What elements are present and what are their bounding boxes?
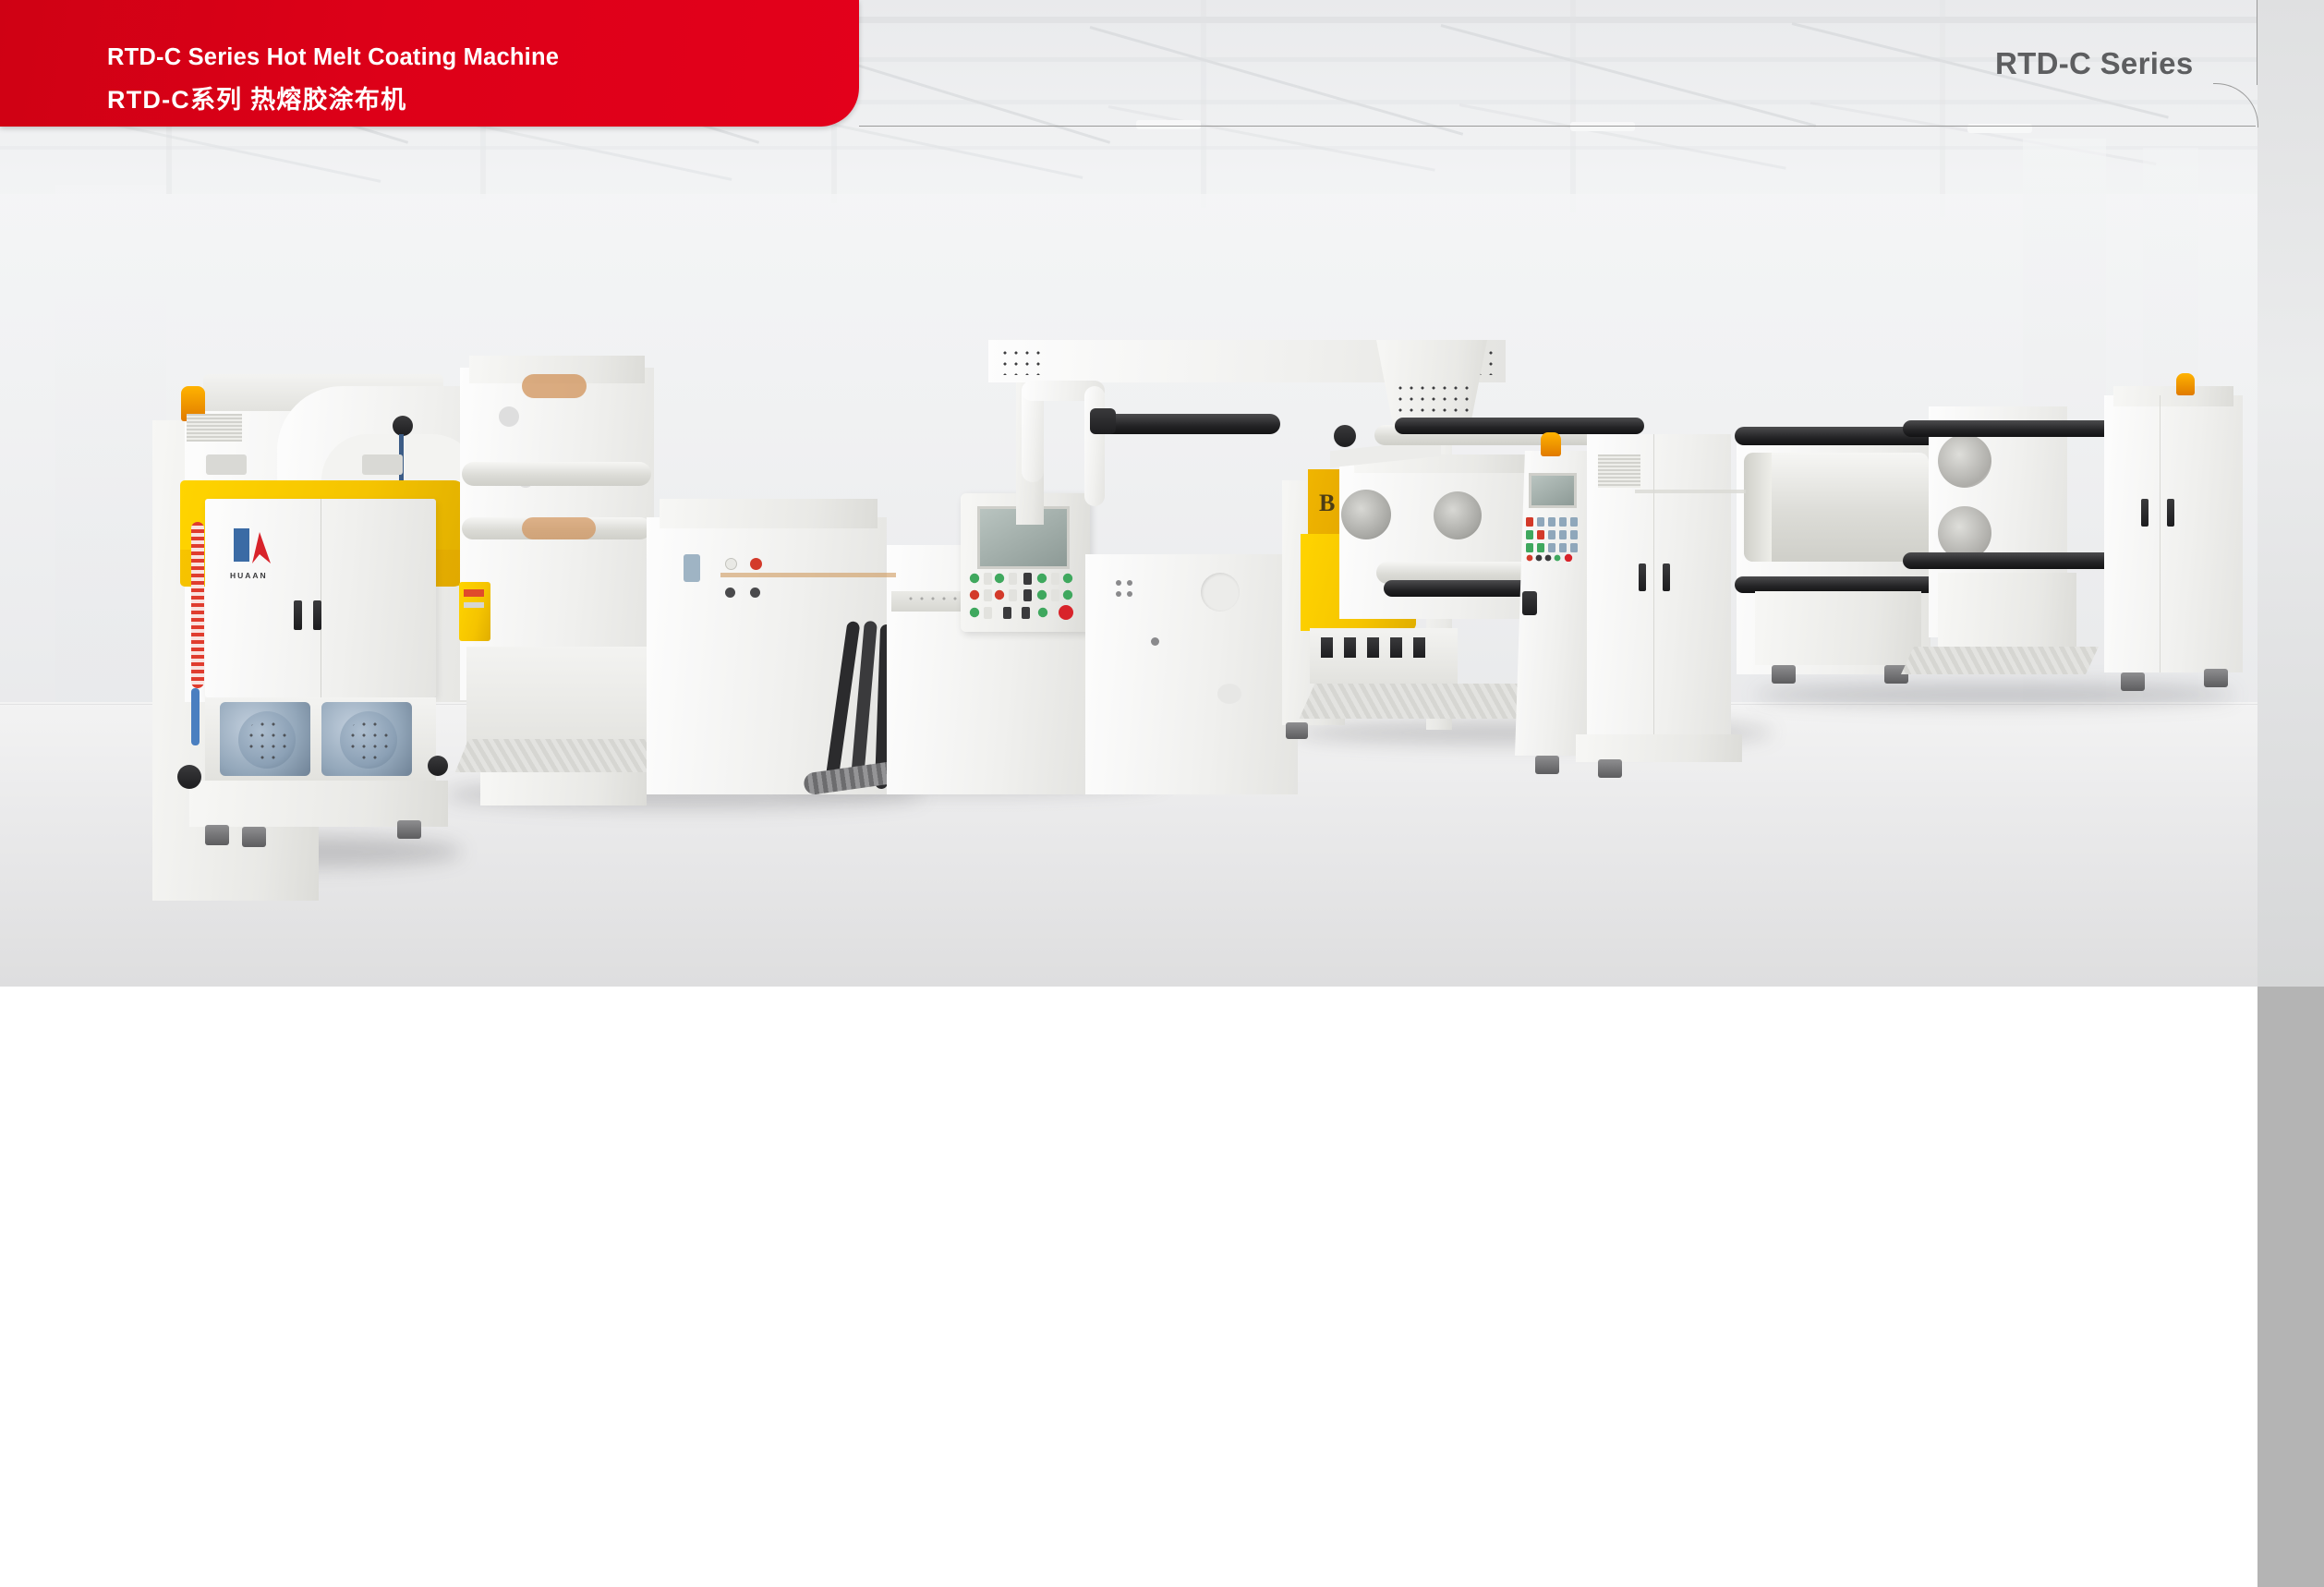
banner-title-cn: RTD-C系列 热熔胶涂布机 bbox=[107, 79, 406, 115]
product-photo: HUAAN bbox=[0, 0, 2324, 987]
far-right-cabinet bbox=[2104, 395, 2243, 672]
rewind-chuck-1 bbox=[1938, 434, 1991, 488]
right-edge-rail-bottom bbox=[2257, 987, 2324, 1587]
chuck-right bbox=[1434, 491, 1482, 539]
unwind-letter-b: B bbox=[1319, 490, 1335, 517]
header-hairline bbox=[859, 126, 2256, 127]
warning-beacon-right bbox=[1541, 432, 1561, 456]
header-corner-vertical bbox=[2257, 0, 2257, 85]
brochure-page: HUAAN bbox=[0, 0, 2324, 1587]
chuck-left bbox=[1341, 490, 1391, 539]
title-banner: RTD-C Series Hot Melt Coating Machine RT… bbox=[0, 0, 859, 127]
huaan-logo bbox=[234, 528, 276, 567]
coating-machine: HUAAN bbox=[0, 0, 2324, 987]
series-tag: RTD-C Series bbox=[1995, 46, 2194, 81]
hmi-screen-right bbox=[1529, 473, 1577, 508]
right-edge-rail bbox=[2257, 0, 2324, 987]
content-area bbox=[0, 987, 2257, 1587]
jumbo-roll bbox=[1744, 453, 1929, 562]
banner-title-en: RTD-C Series Hot Melt Coating Machine bbox=[107, 44, 559, 71]
